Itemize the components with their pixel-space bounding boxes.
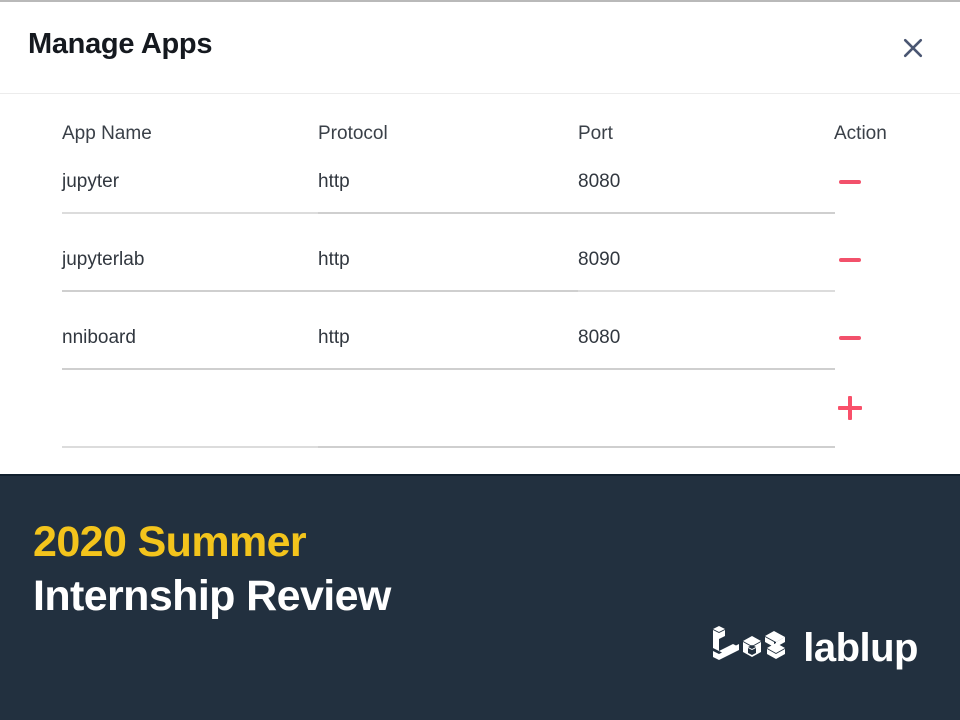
table-row-new-entry <box>0 378 960 456</box>
close-button[interactable] <box>896 31 930 65</box>
lablup-logo-icon <box>703 623 789 672</box>
brand-wordmark: lablup <box>803 628 918 668</box>
table-row: jupyter http 8080 <box>0 144 960 222</box>
port-underline <box>578 290 835 292</box>
column-header-action: Action <box>834 124 887 143</box>
page-title: Manage Apps <box>28 28 212 61</box>
app-name-field[interactable]: jupyterlab <box>62 250 144 269</box>
protocol-field[interactable]: http <box>318 328 350 347</box>
brand-lockup: lablup <box>703 623 918 672</box>
table-header-row: App Name Protocol Port Action <box>0 94 960 144</box>
minus-icon <box>839 180 861 184</box>
plus-icon <box>838 396 862 420</box>
app-name-field[interactable]: jupyter <box>62 172 119 191</box>
port-field[interactable]: 8080 <box>578 328 620 347</box>
app-name-field[interactable]: nniboard <box>62 328 136 347</box>
protocol-port-underline <box>318 212 835 214</box>
column-header-protocol: Protocol <box>318 124 388 143</box>
manage-apps-dialog: Manage Apps App Name Protocol Port Actio… <box>0 0 960 474</box>
minus-icon <box>839 258 861 262</box>
port-field[interactable]: 8080 <box>578 172 620 191</box>
minus-icon <box>839 336 861 340</box>
app-name-underline <box>62 446 318 448</box>
apps-table: App Name Protocol Port Action jupyter ht… <box>0 94 960 456</box>
dialog-header: Manage Apps <box>0 2 960 94</box>
add-app-button[interactable] <box>834 392 866 424</box>
column-header-app-name: App Name <box>62 124 152 143</box>
protocol-field[interactable]: http <box>318 172 350 191</box>
row-underline <box>62 368 835 370</box>
port-field[interactable]: 8090 <box>578 250 620 269</box>
table-row: jupyterlab http 8090 <box>0 222 960 300</box>
close-icon <box>902 37 924 59</box>
screenshot-root: Manage Apps App Name Protocol Port Actio… <box>0 0 960 720</box>
app-name-protocol-underline <box>62 290 578 292</box>
column-header-port: Port <box>578 124 613 143</box>
protocol-field[interactable]: http <box>318 250 350 269</box>
remove-app-button[interactable] <box>834 244 866 276</box>
bottom-banner: 2020 Summer Internship Review <box>0 474 960 720</box>
banner-headline-subject: Internship Review <box>33 575 391 618</box>
protocol-port-underline <box>318 446 835 448</box>
remove-app-button[interactable] <box>834 322 866 354</box>
banner-headline-year: 2020 Summer <box>33 521 306 564</box>
app-name-underline <box>62 212 318 214</box>
remove-app-button[interactable] <box>834 166 866 198</box>
table-row: nniboard http 8080 <box>0 300 960 378</box>
